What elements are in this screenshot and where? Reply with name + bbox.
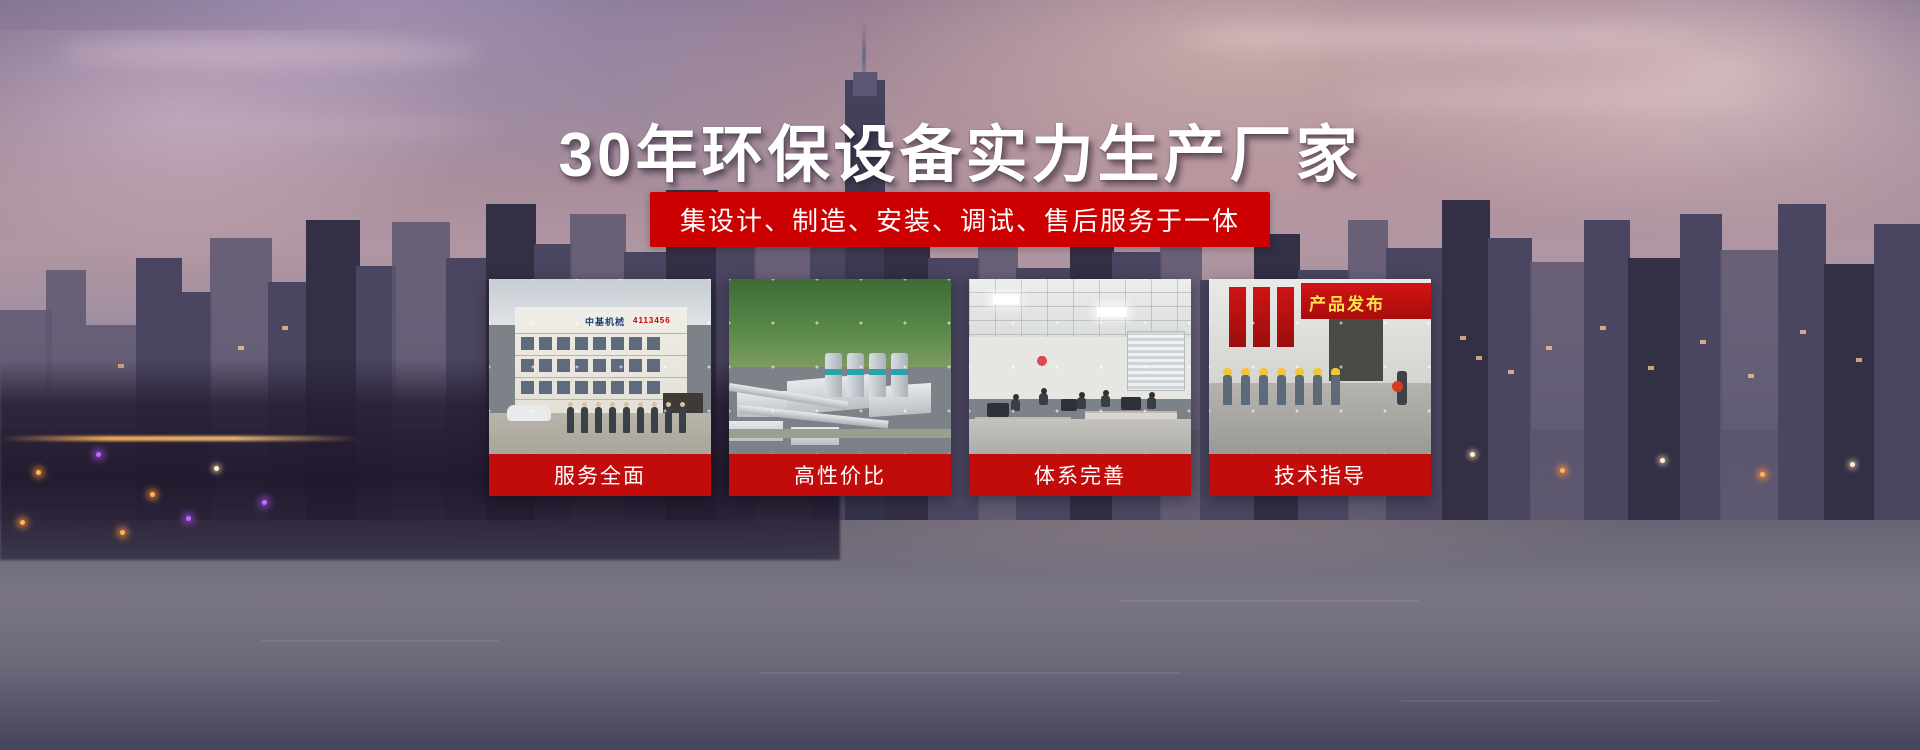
card-photo-office-interior [969,279,1191,454]
hero-banner: 30年环保设备实力生产厂家 集设计、制造、安装、调试、售后服务于一体 中基机械 … [0,0,1920,750]
card-caption: 体系完善 [969,454,1191,496]
building-phone-text: 4113456 [633,316,671,325]
building-sign-text: 中基机械 [585,315,625,328]
card-photo-headquarters: 中基机械 4113456 [489,279,711,454]
card-caption: 技术指导 [1209,454,1431,496]
workshop-banner-text: 产品发布 [1309,290,1385,315]
page-title: 30年环保设备实力生产厂家 [0,104,1920,194]
feature-card-list: 中基机械 4113456 [489,279,1431,496]
feature-card[interactable]: 体系完善 [969,279,1191,496]
feature-card[interactable]: 高性价比 [729,279,951,496]
card-caption: 高性价比 [729,454,951,496]
card-photo-aerial-plant [729,279,951,454]
subtitle-banner: 集设计、制造、安装、调试、售后服务于一体 [650,192,1270,247]
card-photo-workshop: 产品发布 [1209,279,1431,454]
card-caption: 服务全面 [489,454,711,496]
feature-card[interactable]: 中基机械 4113456 [489,279,711,496]
feature-card[interactable]: 产品发布 技术指导 [1209,279,1431,496]
